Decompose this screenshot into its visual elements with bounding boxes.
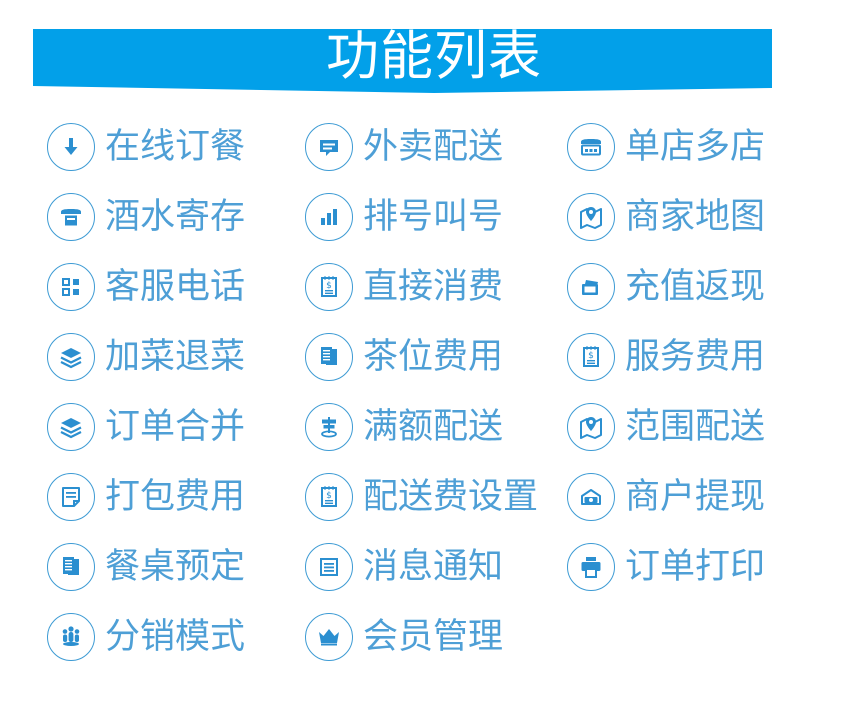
feature-label: 满额配送 [363,407,503,447]
crown-icon [305,613,353,661]
storefront-icon [567,123,615,171]
document-lines-icon [305,543,353,591]
feature-label: 排号叫号 [363,197,503,237]
feature-item-merchant-map[interactable]: 商家地图 [567,182,837,252]
feature-item-member-management[interactable]: 会员管理 [305,602,567,672]
download-arrow-icon [47,123,95,171]
feature-label: 商户提现 [625,477,765,517]
feature-row: 在线订餐 外卖配送 [47,112,837,182]
feature-label: 酒水寄存 [105,197,245,237]
feature-item-packaging-fee[interactable]: 打包费用 [47,462,305,532]
feature-row: 餐桌预定 消息通知 [47,532,837,602]
feature-label: 外卖配送 [363,127,503,167]
feature-label: 分销模式 [105,617,245,657]
feature-row: 打包费用 $ 配送费设置 [47,462,837,532]
receipt-dollar-icon: $ [305,263,353,311]
feature-item-table-reservation[interactable]: 餐桌预定 [47,532,305,602]
printer-icon [567,543,615,591]
layers-icon [47,333,95,381]
svg-text:$: $ [326,281,332,291]
feature-label: 直接消费 [363,267,503,307]
feature-item-drink-storage[interactable]: 酒水寄存 [47,182,305,252]
feature-item-distribution-mode[interactable]: 分销模式 [47,602,305,672]
bar-chart-icon [305,193,353,241]
feature-label: 打包费用 [105,477,245,517]
feature-list-page: 功能列表 在线订餐 [0,0,868,703]
feature-item-service-fee[interactable]: $ 服务费用 [567,322,837,392]
feature-row: 客服电话 $ 直接消费 [47,252,837,322]
feature-label: 充值返现 [625,267,765,307]
feature-item-online-order[interactable]: 在线订餐 [47,112,305,182]
feature-label: 客服电话 [105,267,245,307]
feature-item-full-amount-delivery[interactable]: 满额配送 [305,392,567,462]
feature-item-delivery-fee-settings[interactable]: $ 配送费设置 [305,462,567,532]
feature-label: 会员管理 [363,617,503,657]
documents-stack-icon [47,543,95,591]
feature-label: 单店多店 [625,127,765,167]
map-pin-icon [567,193,615,241]
cash-house-icon [567,473,615,521]
svg-text:$: $ [326,491,332,501]
feature-label: 配送费设置 [363,477,538,517]
feature-item-queue-number[interactable]: 排号叫号 [305,182,567,252]
feature-label: 商家地图 [625,197,765,237]
shop-awning-icon [47,193,95,241]
feature-row: 加菜退菜 茶位费用 [47,322,837,392]
feature-item-takeout-delivery[interactable]: 外卖配送 [305,112,567,182]
receipt-dollar-icon: $ [305,473,353,521]
map-pin-icon [567,403,615,451]
people-group-icon [47,613,95,661]
signpost-icon [305,403,353,451]
feature-label: 加菜退菜 [105,337,245,377]
feature-item-tea-fee[interactable]: 茶位费用 [305,322,567,392]
feature-label: 订单合并 [105,407,245,447]
feature-row: 酒水寄存 排号叫号 [47,182,837,252]
feature-row: 订单合并 满额配送 [47,392,837,462]
svg-text:$: $ [588,351,594,361]
feature-label: 服务费用 [625,337,765,377]
note-pencil-icon [47,473,95,521]
feature-label: 餐桌预定 [105,547,245,587]
feature-item-recharge-cashback[interactable]: 充值返现 [567,252,837,322]
feature-label: 茶位费用 [363,337,503,377]
wallet-cards-icon [567,263,615,311]
feature-grid: 在线订餐 外卖配送 [47,112,837,672]
feature-item-merchant-withdraw[interactable]: 商户提现 [567,462,837,532]
feature-item-direct-consume[interactable]: $ 直接消费 [305,252,567,322]
feature-row: 分销模式 会员管理 [47,602,837,672]
feature-item-message-notification[interactable]: 消息通知 [305,532,567,602]
header-banner: 功能列表 [0,0,868,100]
feature-label: 订单打印 [625,547,765,587]
feature-item-multi-store[interactable]: 单店多店 [567,112,837,182]
feature-label: 范围配送 [625,407,765,447]
documents-stack-icon [305,333,353,381]
feature-item-support-phone[interactable]: 客服电话 [47,252,305,322]
blocks-grid-icon [47,263,95,311]
speech-bubble-icon [305,123,353,171]
feature-item-order-merge[interactable]: 订单合并 [47,392,305,462]
page-title: 功能列表 [0,27,868,87]
feature-label: 在线订餐 [105,127,245,167]
receipt-dollar-icon: $ [567,333,615,381]
feature-item-order-print[interactable]: 订单打印 [567,532,837,602]
feature-item-add-remove-dish[interactable]: 加菜退菜 [47,322,305,392]
layers-icon [47,403,95,451]
feature-label: 消息通知 [363,547,503,587]
feature-item-range-delivery[interactable]: 范围配送 [567,392,837,462]
